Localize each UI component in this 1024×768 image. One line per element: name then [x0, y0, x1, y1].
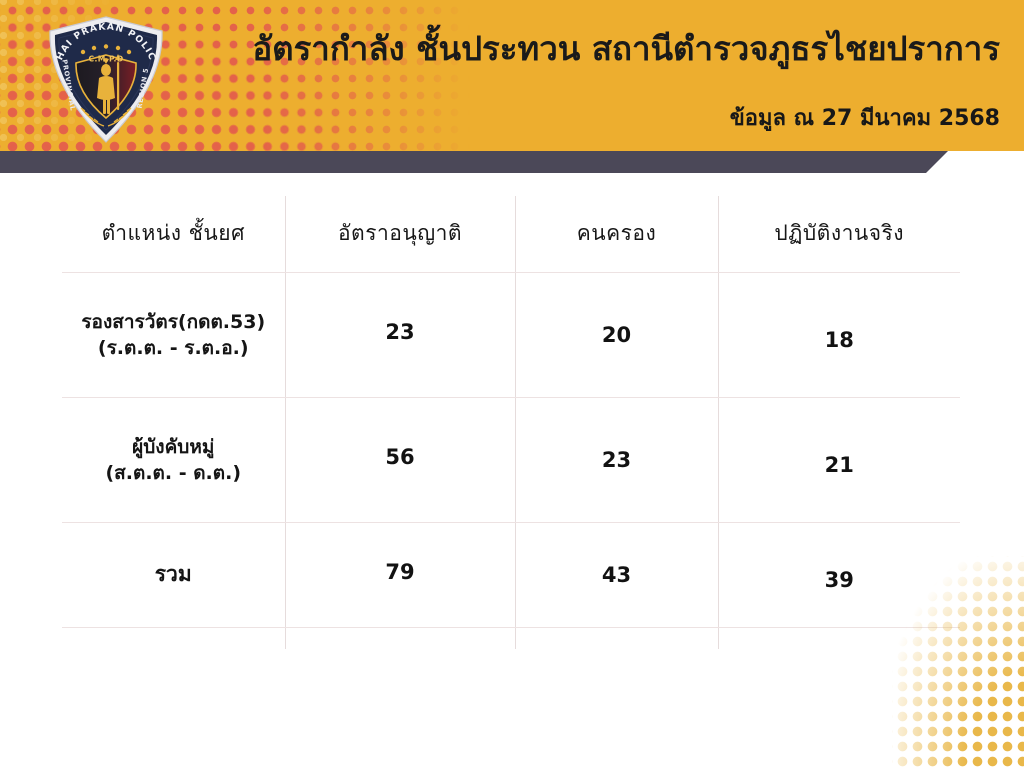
row-label-total: รวม [62, 522, 285, 627]
header-banner: CHAI PRAKAN POLICE PROVINCIAL REGION 5 C… [0, 0, 1024, 151]
data-as-of-subtitle: ข้อมูล ณ 27 มีนาคม 2568 [200, 104, 1000, 134]
cell-occupied-total: 43 [515, 522, 718, 627]
row-label-line2: (ส.ต.ต. - ด.ต.) [66, 460, 281, 486]
personnel-table-container: ตำแหน่ง ชั้นยศ อัตราอนุญาติ คนครอง ปฏิบั… [62, 196, 960, 649]
cell-actual: 18 [718, 272, 960, 397]
table-body: รองสารวัตร(กดต.53) (ร.ต.ต. - ร.ต.อ.) 23 … [62, 272, 960, 649]
spacer-cell [285, 627, 515, 649]
column-header-actual: ปฏิบัติงานจริง [718, 196, 960, 272]
row-label-deputy-inspector: รองสารวัตร(กดต.53) (ร.ต.ต. - ร.ต.อ.) [62, 272, 285, 397]
cell-allowed: 56 [285, 397, 515, 522]
cell-actual-total: 39 [718, 522, 960, 627]
table-row: ผู้บังคับหมู่ (ส.ต.ต. - ด.ต.) 56 23 21 [62, 397, 960, 522]
slide-canvas: CHAI PRAKAN POLICE PROVINCIAL REGION 5 C… [0, 0, 1024, 768]
row-label-line2: (ร.ต.ต. - ร.ต.อ.) [66, 335, 281, 361]
spacer-cell [515, 627, 718, 649]
header-accent-bar [0, 151, 948, 173]
column-header-position: ตำแหน่ง ชั้นยศ [62, 196, 285, 272]
column-header-occupied: คนครอง [515, 196, 718, 272]
emblem-center-text: C.M.P.D [88, 55, 123, 64]
table-header-row: ตำแหน่ง ชั้นยศ อัตราอนุญาติ คนครอง ปฏิบั… [62, 196, 960, 272]
row-label-line1: ผู้บังคับหมู่ [132, 436, 214, 458]
cell-allowed-total: 79 [285, 522, 515, 627]
police-emblem-icon: CHAI PRAKAN POLICE PROVINCIAL REGION 5 C… [42, 14, 170, 145]
table-row-spacer [62, 627, 960, 649]
page-title: อัตรากำลัง ชั้นประทวน สถานีตำรวจภูธรไชยป… [200, 27, 1000, 71]
spacer-cell [62, 627, 285, 649]
table-header: ตำแหน่ง ชั้นยศ อัตราอนุญาติ คนครอง ปฏิบั… [62, 196, 960, 272]
column-header-allowed: อัตราอนุญาติ [285, 196, 515, 272]
row-label-line1: รองสารวัตร(กดต.53) [81, 311, 265, 333]
cell-occupied: 20 [515, 272, 718, 397]
cell-occupied: 23 [515, 397, 718, 522]
personnel-table: ตำแหน่ง ชั้นยศ อัตราอนุญาติ คนครอง ปฏิบั… [62, 196, 960, 649]
spacer-cell [718, 627, 960, 649]
cell-actual: 21 [718, 397, 960, 522]
table-row-total: รวม 79 43 39 [62, 522, 960, 627]
row-label-squad-leader: ผู้บังคับหมู่ (ส.ต.ต. - ด.ต.) [62, 397, 285, 522]
table-row: รองสารวัตร(กดต.53) (ร.ต.ต. - ร.ต.อ.) 23 … [62, 272, 960, 397]
cell-allowed: 23 [285, 272, 515, 397]
